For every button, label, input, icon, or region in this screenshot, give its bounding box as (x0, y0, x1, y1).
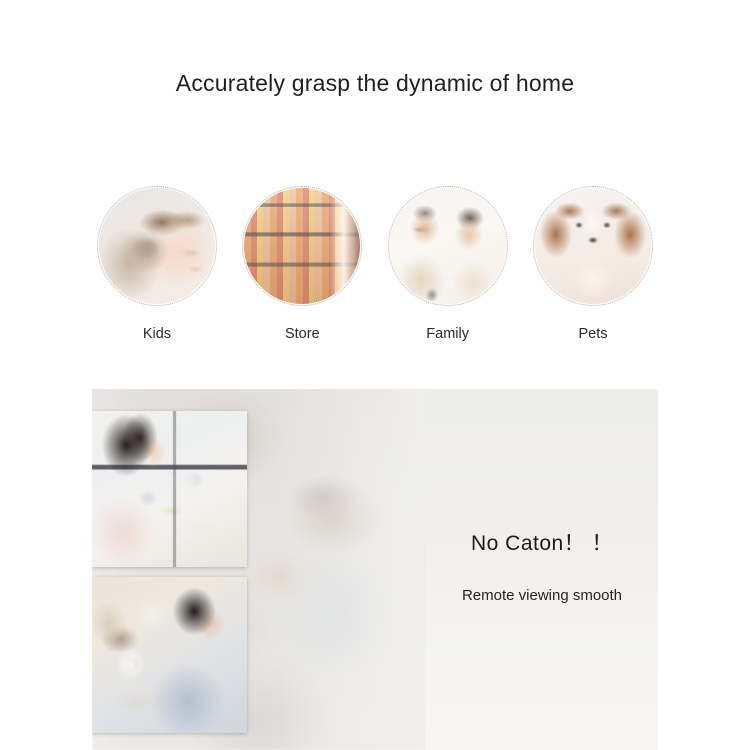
elderly-couple-phone-photo (390, 188, 506, 304)
sleeping-baby-photo (99, 188, 215, 304)
page-title: Accurately grasp the dynamic of home (0, 70, 750, 97)
woman-laptop-video-call-photo (92, 411, 247, 567)
scenario-item-kids[interactable]: Kids (96, 186, 218, 364)
man-tablet-video-call-photo (92, 577, 247, 733)
feature-text-block: No Caton！ ！ Remote viewing smooth (426, 389, 658, 750)
feature-heading: No Caton！ ！ (426, 527, 658, 557)
feature-panel: No Caton！ ！ Remote viewing smooth (92, 389, 658, 750)
scenario-label-store: Store (285, 326, 320, 342)
scenario-label-family: Family (426, 326, 469, 342)
pets-circle-frame (533, 186, 653, 306)
feature-subheading: Remote viewing smooth (426, 587, 658, 604)
store-circle-frame (242, 186, 362, 306)
scenario-list: Kids Store Family Pe (96, 186, 654, 364)
scenario-label-kids: Kids (143, 326, 171, 342)
scenario-item-pets[interactable]: Pets (532, 186, 654, 364)
kids-circle-frame (97, 186, 217, 306)
scenario-item-store[interactable]: Store (241, 186, 363, 364)
spaniel-dog-photo (535, 188, 651, 304)
scenario-label-pets: Pets (578, 326, 607, 342)
promo-page: Accurately grasp the dynamic of home Kid… (0, 0, 750, 750)
scenario-item-family[interactable]: Family (387, 186, 509, 364)
store-shelves-photo (244, 188, 360, 304)
family-circle-frame (388, 186, 508, 306)
